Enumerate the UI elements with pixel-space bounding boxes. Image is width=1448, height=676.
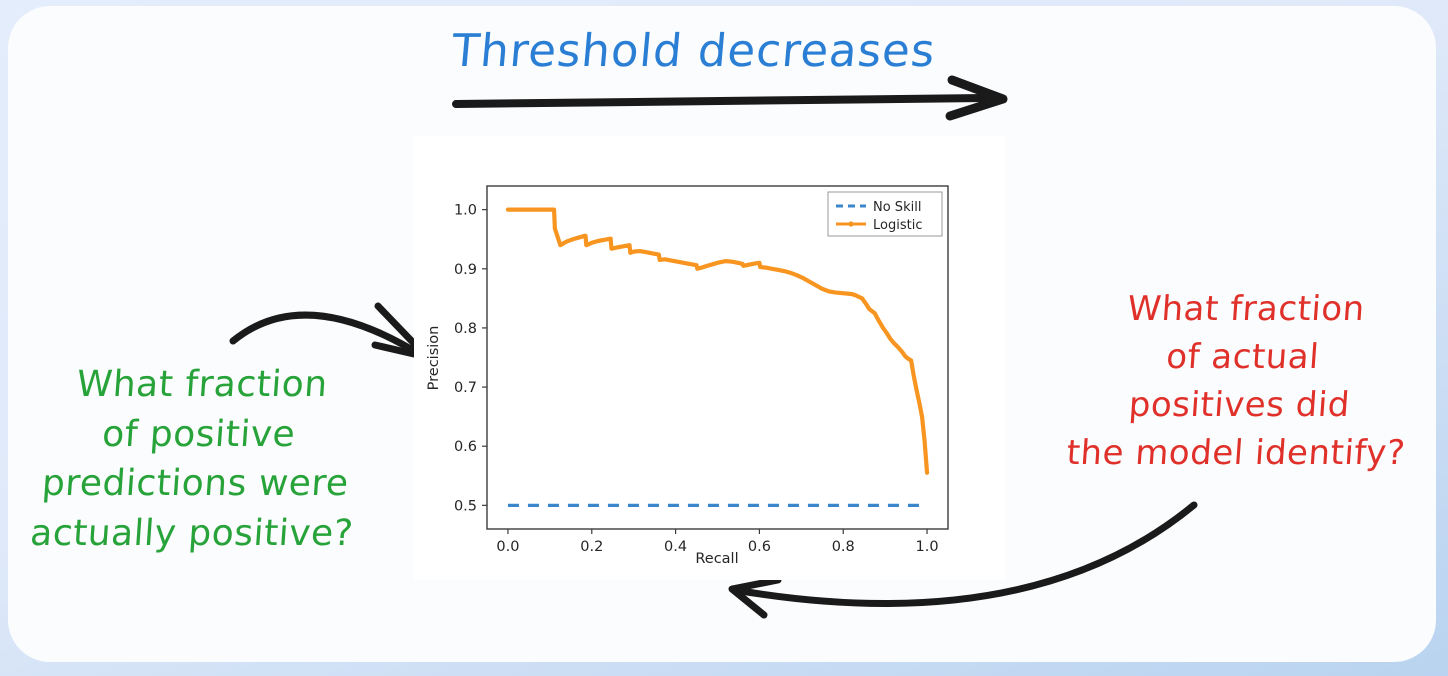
y-tick-label: 0.6: [454, 439, 477, 455]
legend-label-logistic: Logistic: [873, 218, 922, 233]
x-tick-label: 1.0: [916, 539, 939, 555]
y-tick-label: 1.0: [454, 203, 477, 219]
legend-marker-logistic: [848, 221, 853, 226]
annotation-precision-question: What fraction of positive predictions we…: [1, 360, 393, 559]
chart-legend: No Skill Logistic: [828, 192, 942, 236]
x-axis-label: Recall: [695, 551, 738, 567]
x-tick-label: 0.0: [496, 539, 519, 555]
y-tick-label: 0.9: [454, 262, 477, 278]
x-tick-label: 0.8: [832, 539, 855, 555]
chart-svg: 0.50.60.70.80.91.0 0.00.20.40.60.81.0 Re…: [414, 136, 1006, 580]
slide-canvas: Threshold decreases What fraction of pos…: [0, 0, 1448, 676]
annotation-threshold-decreases: Threshold decreases: [450, 28, 954, 73]
y-axis-label: Precision: [426, 326, 442, 391]
y-tick-label: 0.7: [454, 380, 477, 396]
legend-label-no-skill: No Skill: [873, 200, 921, 215]
x-tick-label: 0.6: [748, 539, 771, 555]
y-tick-label: 0.8: [454, 321, 477, 337]
y-axis-ticks: 0.50.60.70.80.91.0: [454, 203, 487, 515]
y-tick-label: 0.5: [454, 498, 477, 514]
precision-recall-chart: 0.50.60.70.80.91.0 0.00.20.40.60.81.0 Re…: [414, 136, 1006, 580]
x-tick-label: 0.4: [664, 539, 687, 555]
annotation-recall-question: What fraction of actual positives did th…: [1035, 286, 1446, 478]
x-tick-label: 0.2: [580, 539, 603, 555]
